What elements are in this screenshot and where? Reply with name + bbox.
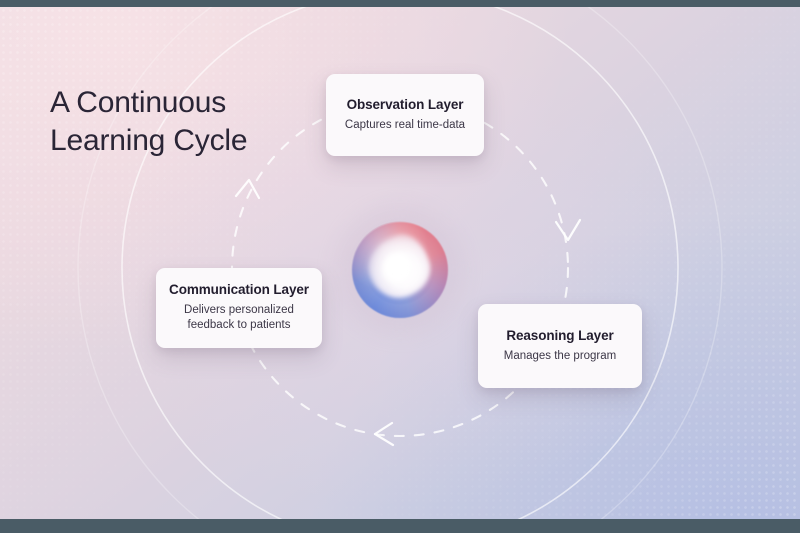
slide-canvas: A Continuous Learning Cycle Observation … [0,0,800,533]
node-card-title: Reasoning Layer [506,328,613,345]
node-card-title: Communication Layer [169,282,309,299]
node-card-subtitle: Captures real time-data [345,118,465,134]
page-title: A Continuous Learning Cycle [50,84,247,161]
orb-gloss [352,222,448,318]
top-bar [0,0,800,7]
node-card-observation[interactable]: Observation Layer Captures real time-dat… [326,74,484,156]
node-card-subtitle: Manages the program [504,349,617,365]
arrow-down-right-icon [556,220,580,240]
node-card-reasoning[interactable]: Reasoning Layer Manages the program [478,304,642,388]
node-card-communication[interactable]: Communication Layer Delivers personalize… [156,268,322,348]
core-orb [352,222,448,318]
node-card-subtitle: Delivers personalized feedback to patien… [184,303,294,334]
node-card-title: Observation Layer [347,97,464,114]
bottom-bar [0,519,800,533]
